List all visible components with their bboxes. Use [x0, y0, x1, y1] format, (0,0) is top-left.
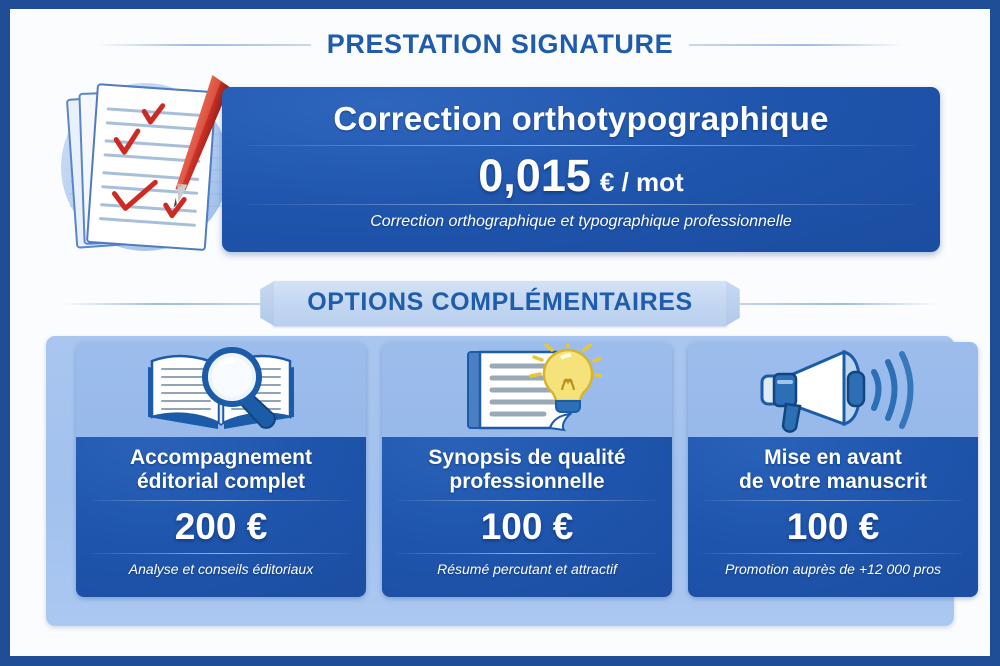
option-title-line2: professionnelle [449, 470, 604, 493]
options-section-header: OPTIONS COMPLÉMENTAIRES [10, 281, 990, 326]
option-subtitle: Promotion auprès de +12 000 pros [725, 561, 941, 577]
option-divider-top [92, 500, 350, 501]
option-divider-bottom [92, 553, 350, 554]
hero-header-title: PRESTATION SIGNATURE [311, 29, 690, 60]
poster-frame: PRESTATION SIGNATURE [0, 0, 1000, 666]
option-price: 200 € [175, 508, 268, 545]
option-card-title: Accompagnement éditorial complet [130, 446, 312, 495]
megaphone-icon [688, 342, 978, 437]
option-card-body: Mise en avant de votre manuscrit 100 € P… [688, 437, 978, 597]
option-title-line1: Mise en avant [764, 446, 902, 469]
hero-price-value: 0,015 [478, 153, 591, 198]
hero-price-row: 0,015 € / mot [478, 153, 683, 198]
hero-section-header: PRESTATION SIGNATURE [10, 29, 990, 60]
option-card-body: Accompagnement éditorial complet 200 € A… [76, 437, 366, 597]
open-book-magnifier-icon [76, 342, 366, 437]
option-title-line1: Synopsis de qualité [428, 446, 625, 469]
option-divider-bottom [704, 553, 962, 554]
option-card-body: Synopsis de qualité professionnelle 100 … [382, 437, 672, 597]
option-title-line1: Accompagnement [130, 446, 312, 469]
document-lightbulb-icon [382, 342, 672, 437]
option-divider-bottom [398, 553, 656, 554]
options-header-ribbon: OPTIONS COMPLÉMENTAIRES [273, 281, 727, 326]
poster-canvas: PRESTATION SIGNATURE [10, 9, 990, 656]
option-price: 100 € [481, 508, 574, 545]
hero-card-subtitle: Correction orthographique et typographiq… [370, 213, 792, 231]
hero-divider-top [248, 145, 914, 146]
signature-service-card: Correction orthotypographique 0,015 € / … [222, 87, 940, 252]
option-divider-top [398, 500, 656, 501]
hero-price-unit: € / mot [600, 167, 684, 198]
header-rule-right [689, 44, 904, 46]
option-title-line2: de votre manuscrit [739, 470, 927, 493]
options-card-list: Accompagnement éditorial complet 200 € A… [76, 342, 978, 597]
option-card-title: Mise en avant de votre manuscrit [739, 446, 927, 495]
options-rule-right [727, 303, 937, 305]
options-rule-left [63, 303, 273, 305]
option-title-line2: éditorial complet [137, 470, 305, 493]
option-card-title: Synopsis de qualité professionnelle [428, 446, 625, 495]
option-subtitle: Analyse et conseils éditoriaux [129, 561, 313, 577]
option-subtitle: Résumé percutant et attractif [437, 561, 617, 577]
option-price: 100 € [787, 508, 880, 545]
hero-card-title: Correction orthotypographique [333, 101, 828, 138]
option-card-synopsis[interactable]: Synopsis de qualité professionnelle 100 … [382, 342, 672, 597]
hero-divider-bottom [248, 204, 914, 205]
option-card-accompagnement[interactable]: Accompagnement éditorial complet 200 € A… [76, 342, 366, 597]
options-panel: Accompagnement éditorial complet 200 € A… [46, 336, 954, 626]
header-rule-left [96, 44, 311, 46]
options-header-title: OPTIONS COMPLÉMENTAIRES [307, 288, 693, 317]
option-card-mise-en-avant[interactable]: Mise en avant de votre manuscrit 100 € P… [688, 342, 978, 597]
option-divider-top [704, 500, 962, 501]
